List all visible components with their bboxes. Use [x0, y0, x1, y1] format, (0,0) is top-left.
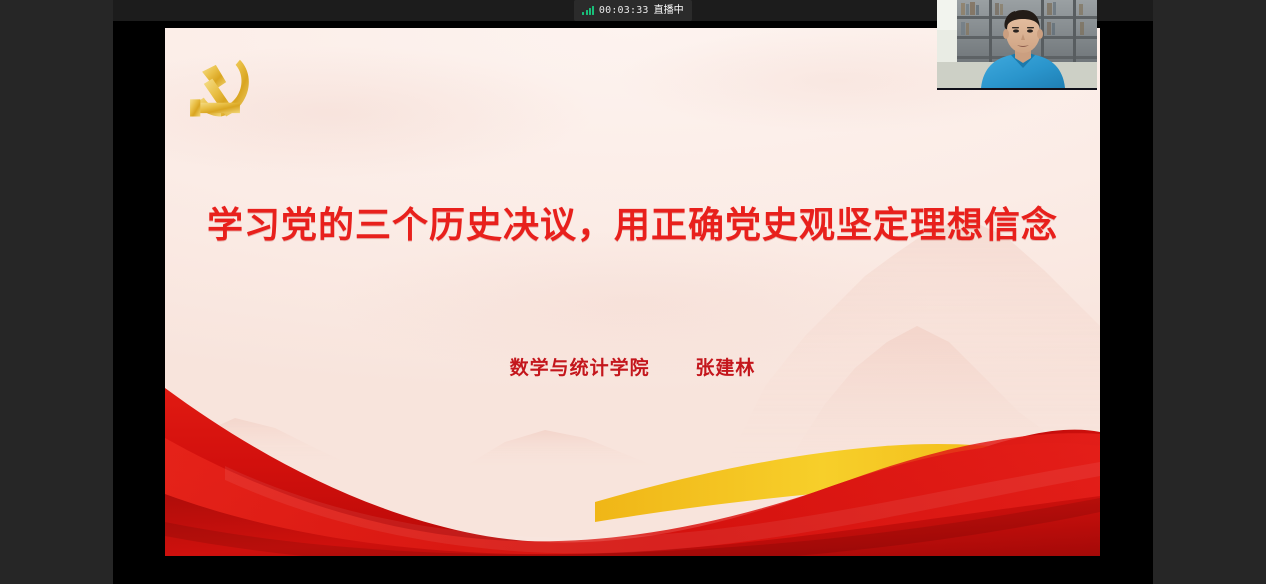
- slide-subtitle-presenter: 数学与统计学院 张建林: [165, 353, 1100, 380]
- live-badge-label: 直播中: [654, 0, 684, 21]
- live-status-pill: 00:03:33 直播中: [574, 0, 691, 21]
- presenter-webcam-thumbnail[interactable]: [937, 0, 1097, 90]
- presentation-slide[interactable]: 学习党的三个历史决议，用正确党史观坚定理想信念 数学与统计学院 张建林: [165, 28, 1100, 556]
- cpc-hammer-sickle-emblem-icon: [178, 46, 264, 132]
- live-stream-player: 00:03:33 直播中: [0, 0, 1266, 584]
- webcam-video-frame: [937, 0, 1097, 88]
- stream-timer: 00:03:33: [599, 0, 649, 21]
- signal-bars-icon: [582, 6, 594, 15]
- slide-title: 学习党的三个历史决议，用正确党史观坚定理想信念: [165, 196, 1100, 248]
